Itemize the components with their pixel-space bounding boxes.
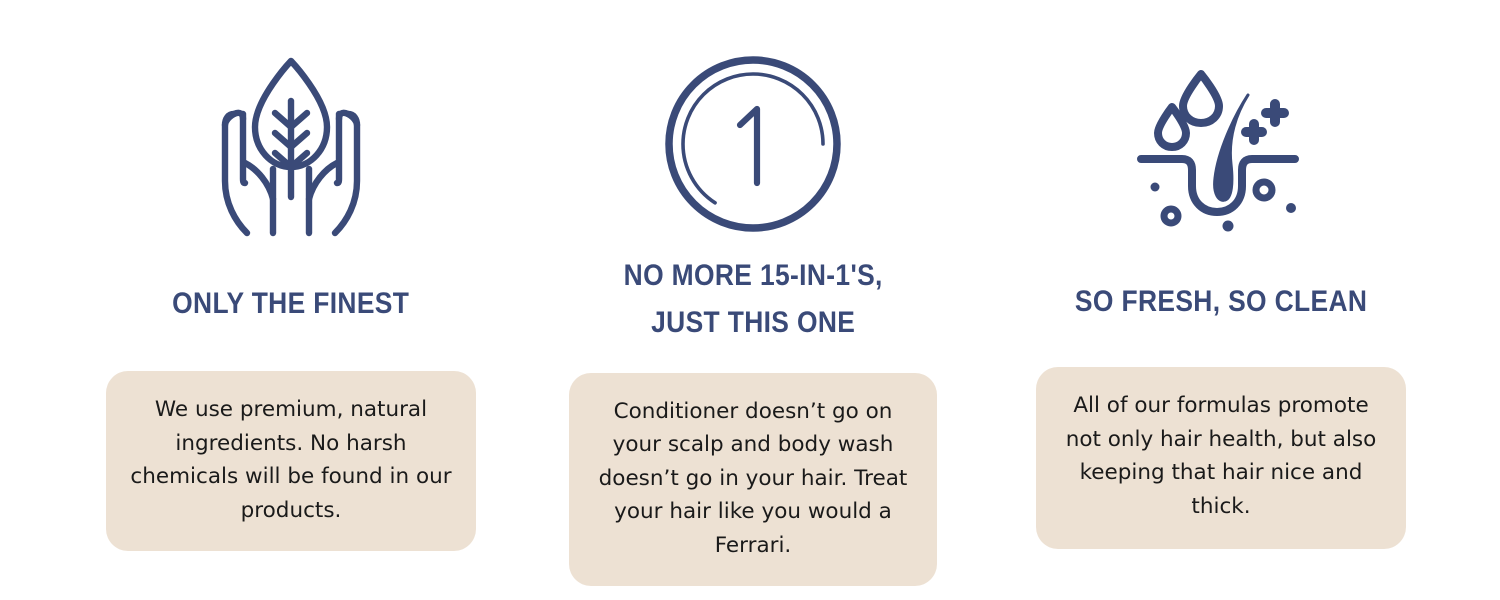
number-one-in-circle-icon xyxy=(660,34,846,254)
benefit-card-only-the-finest: We use premium, natural ingredients. No … xyxy=(106,371,476,551)
benefit-heading-only-the-finest: ONLY THE FINEST xyxy=(172,280,409,327)
benefit-card-so-fresh-so-clean: All of our formulas promote not only hai… xyxy=(1036,367,1406,549)
benefit-body-only-the-finest: We use premium, natural ingredients. No … xyxy=(130,397,451,523)
hair-follicle-skin-icon xyxy=(1135,40,1307,260)
benefit-body-just-this-one: Conditioner doesn’t go on your scalp and… xyxy=(599,399,908,558)
benefit-column-only-the-finest: ONLY THE FINEST We use premium, natural … xyxy=(61,0,521,551)
benefit-card-just-this-one: Conditioner doesn’t go on your scalp and… xyxy=(569,373,937,587)
hands-holding-leaf-icon xyxy=(201,38,381,258)
benefit-heading-so-fresh-so-clean: SO FRESH, SO CLEAN xyxy=(1075,278,1367,325)
benefit-column-so-fresh-so-clean: SO FRESH, SO CLEAN All of our formulas p… xyxy=(991,0,1451,549)
benefit-heading-just-this-one: NO MORE 15-IN-1'S, JUST THIS ONE xyxy=(623,252,882,347)
benefit-column-just-this-one: NO MORE 15-IN-1'S, JUST THIS ONE Conditi… xyxy=(523,0,983,586)
benefits-row: ONLY THE FINEST We use premium, natural … xyxy=(0,0,1500,600)
benefit-body-so-fresh-so-clean: All of our formulas promote not only hai… xyxy=(1066,393,1377,519)
